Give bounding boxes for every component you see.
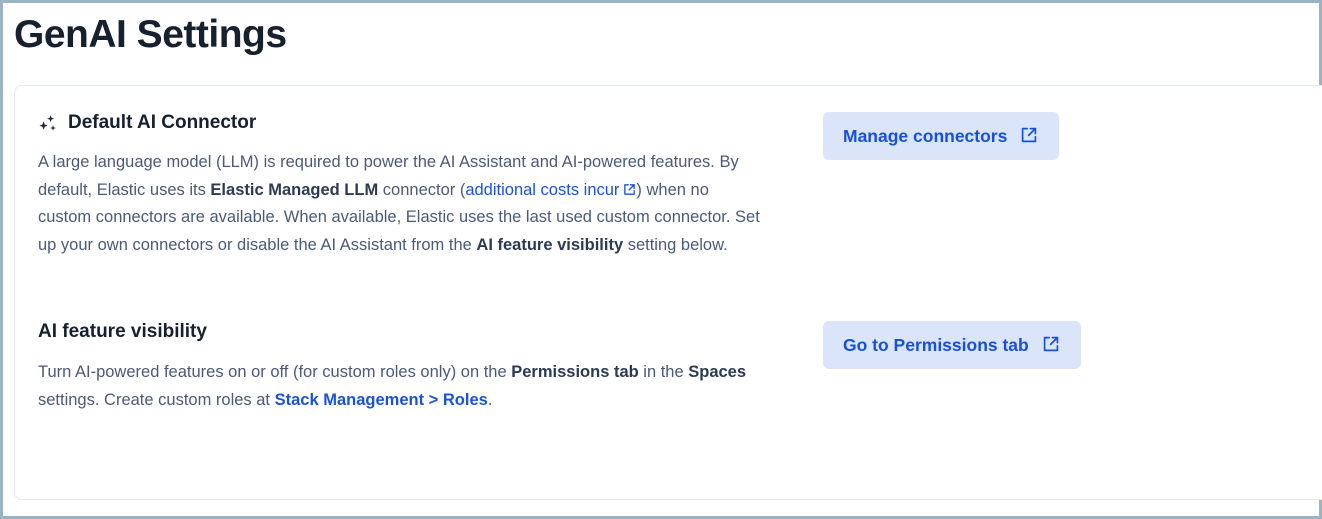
go-to-permissions-tab-button[interactable]: Go to Permissions tab [823, 321, 1081, 369]
ai-feature-visibility-description: Turn AI-powered features on or off (for … [38, 359, 760, 414]
ai-feature-visibility-heading: AI feature visibility [38, 319, 760, 345]
page-frame: GenAI Settings [0, 0, 1322, 519]
sparkles-icon [38, 114, 59, 135]
default-ai-connector-heading-label: Default AI Connector [68, 110, 256, 136]
additional-costs-incur-link-label: additional costs incur [465, 181, 619, 199]
section-default-ai-connector: Default AI Connector A large language mo… [15, 110, 1322, 259]
description-part-3: settings. Create custom roles at [38, 391, 275, 409]
description-bold-ai-feature-visibility: AI feature visibility [476, 236, 623, 254]
section-text-column: Default AI Connector A large language mo… [38, 110, 760, 259]
description-part-2: in the [639, 363, 689, 381]
external-link-icon [1042, 335, 1060, 353]
description-part-2: connector ( [378, 181, 465, 199]
manage-connectors-button-label: Manage connectors [843, 125, 1007, 147]
section-text-column: AI feature visibility Turn AI-powered fe… [38, 319, 760, 414]
default-ai-connector-description: A large language model (LLM) is required… [38, 149, 760, 259]
description-bold-permissions-tab: Permissions tab [511, 363, 638, 381]
description-part-4: . [488, 391, 493, 409]
external-link-icon [623, 183, 636, 196]
description-bold-elastic-managed-llm: Elastic Managed LLM [210, 181, 378, 199]
section-action-column: Manage connectors [760, 110, 1308, 160]
go-to-permissions-tab-button-label: Go to Permissions tab [843, 334, 1029, 356]
description-part-4: setting below. [623, 236, 728, 254]
default-ai-connector-heading: Default AI Connector [38, 110, 760, 136]
stack-management-roles-link[interactable]: Stack Management > Roles [275, 391, 488, 409]
manage-connectors-button[interactable]: Manage connectors [823, 112, 1059, 160]
external-link-icon [1020, 126, 1038, 144]
section-ai-feature-visibility: AI feature visibility Turn AI-powered fe… [15, 319, 1322, 414]
page-header: GenAI Settings [3, 3, 1319, 85]
description-bold-spaces: Spaces [688, 363, 746, 381]
additional-costs-incur-link[interactable]: additional costs incur [465, 181, 636, 199]
section-action-column: Go to Permissions tab [760, 319, 1308, 369]
settings-panel-body: Default AI Connector A large language mo… [15, 86, 1322, 499]
page-inner: GenAI Settings [3, 3, 1319, 516]
settings-panel: Default AI Connector A large language mo… [14, 85, 1322, 500]
page-title: GenAI Settings [14, 9, 287, 61]
description-part-1: Turn AI-powered features on or off (for … [38, 363, 511, 381]
